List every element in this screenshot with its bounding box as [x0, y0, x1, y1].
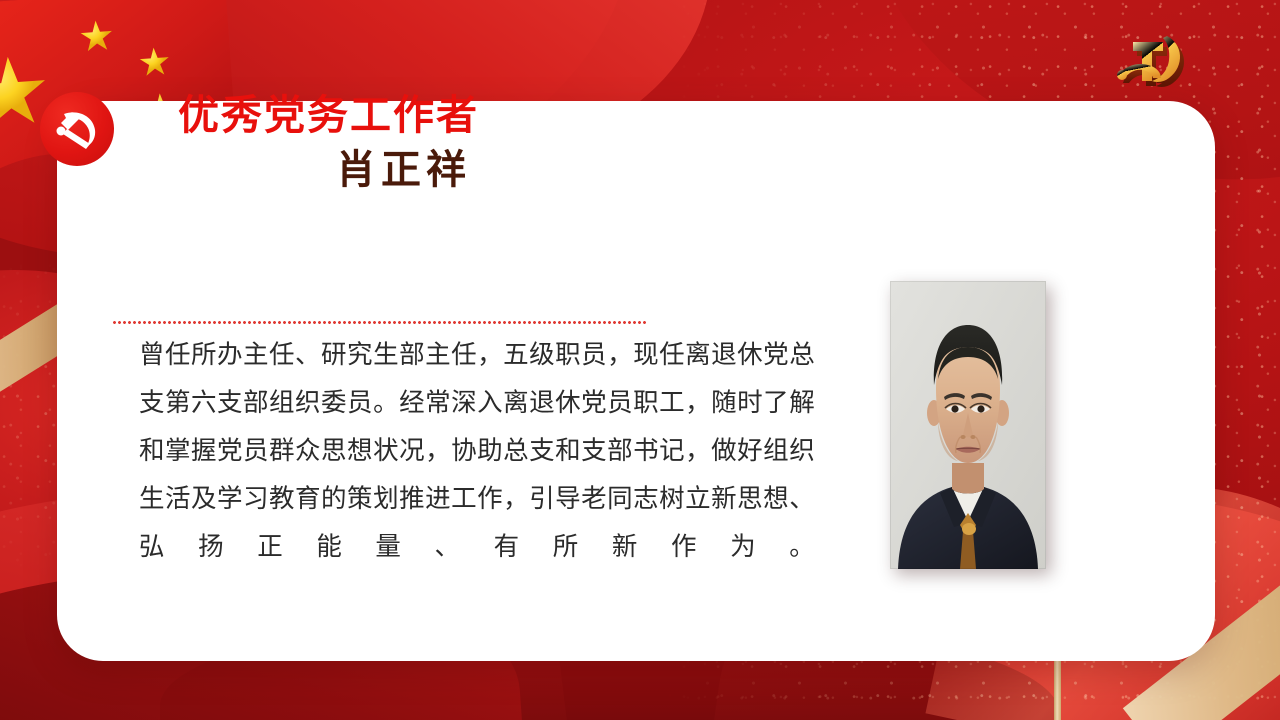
- party-emblem-gold-icon: [1108, 22, 1200, 100]
- slide-root: 优秀党务工作者 肖正祥 曾任所办主任、研究生部主任，五级职员，现任离退休党总支第…: [0, 0, 1280, 720]
- biography-text: 曾任所办主任、研究生部主任，五级职员，现任离退休党总支第六支部组织委员。经常深入…: [139, 331, 815, 619]
- portrait-photo: [890, 281, 1046, 569]
- party-emblem-hammer-sickle-icon: [40, 92, 114, 166]
- header-block: 优秀党务工作者 肖正祥: [40, 92, 640, 176]
- dotted-divider: [112, 321, 646, 324]
- person-name: 肖正祥: [336, 150, 471, 190]
- page-title: 优秀党务工作者: [178, 95, 479, 136]
